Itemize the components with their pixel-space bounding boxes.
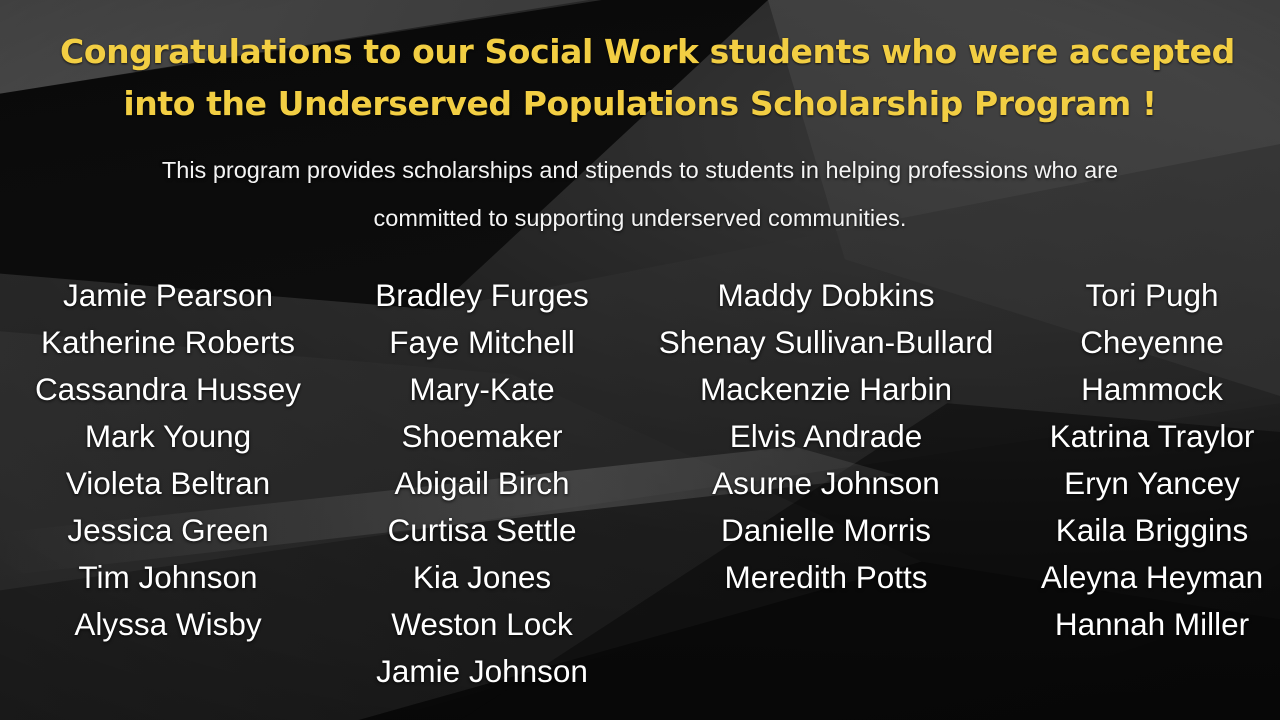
student-name: Cheyenne: [1024, 319, 1280, 366]
student-name-column-4: Tori Pugh Cheyenne Hammock Katrina Trayl…: [1024, 272, 1280, 648]
student-name: Shoemaker: [336, 413, 628, 460]
student-name-columns: Jamie Pearson Katherine Roberts Cassandr…: [0, 272, 1280, 695]
student-name: Alyssa Wisby: [0, 601, 336, 648]
student-name: Shenay Sullivan-Bullard: [628, 319, 1024, 366]
student-name: Elvis Andrade: [628, 413, 1024, 460]
slide-title-line-1: Congratulations to our Social Work stude…: [60, 26, 1220, 78]
student-name: Weston Lock: [336, 601, 628, 648]
slide-title-line-2: into the Underserved Populations Scholar…: [60, 78, 1220, 130]
student-name-column-1: Jamie Pearson Katherine Roberts Cassandr…: [0, 272, 336, 648]
student-name: Violeta Beltran: [0, 460, 336, 507]
student-name: Aleyna Heyman: [1024, 554, 1280, 601]
student-name: Curtisa Settle: [336, 507, 628, 554]
slide-title: Congratulations to our Social Work stude…: [60, 26, 1220, 130]
student-name: Tori Pugh: [1024, 272, 1280, 319]
student-name: Tim Johnson: [0, 554, 336, 601]
student-name: Mackenzie Harbin: [628, 366, 1024, 413]
student-name: Hannah Miller: [1024, 601, 1280, 648]
student-name: Jamie Johnson: [336, 648, 628, 695]
student-name-column-3: Maddy Dobkins Shenay Sullivan-Bullard Ma…: [628, 272, 1024, 601]
student-name: Kaila Briggins: [1024, 507, 1280, 554]
student-name: Meredith Potts: [628, 554, 1024, 601]
slide-content: Congratulations to our Social Work stude…: [0, 0, 1280, 720]
student-name: Bradley Furges: [336, 272, 628, 319]
student-name: Katherine Roberts: [0, 319, 336, 366]
slide-subtitle-line-1: This program provides scholarships and s…: [120, 146, 1160, 194]
presentation-slide: Congratulations to our Social Work stude…: [0, 0, 1280, 720]
student-name: Mark Young: [0, 413, 336, 460]
student-name: Mary-Kate: [336, 366, 628, 413]
student-name-column-2: Bradley Furges Faye Mitchell Mary-Kate S…: [336, 272, 628, 695]
student-name: Danielle Morris: [628, 507, 1024, 554]
student-name: Katrina Traylor: [1024, 413, 1280, 460]
student-name: Hammock: [1024, 366, 1280, 413]
student-name: Jamie Pearson: [0, 272, 336, 319]
student-name: Kia Jones: [336, 554, 628, 601]
student-name: Jessica Green: [0, 507, 336, 554]
student-name: Asurne Johnson: [628, 460, 1024, 507]
slide-subtitle: This program provides scholarships and s…: [120, 146, 1160, 242]
student-name: Cassandra Hussey: [0, 366, 336, 413]
student-name: Abigail Birch: [336, 460, 628, 507]
student-name: Faye Mitchell: [336, 319, 628, 366]
slide-subtitle-line-2: committed to supporting underserved comm…: [120, 194, 1160, 242]
student-name: Eryn Yancey: [1024, 460, 1280, 507]
student-name: Maddy Dobkins: [628, 272, 1024, 319]
